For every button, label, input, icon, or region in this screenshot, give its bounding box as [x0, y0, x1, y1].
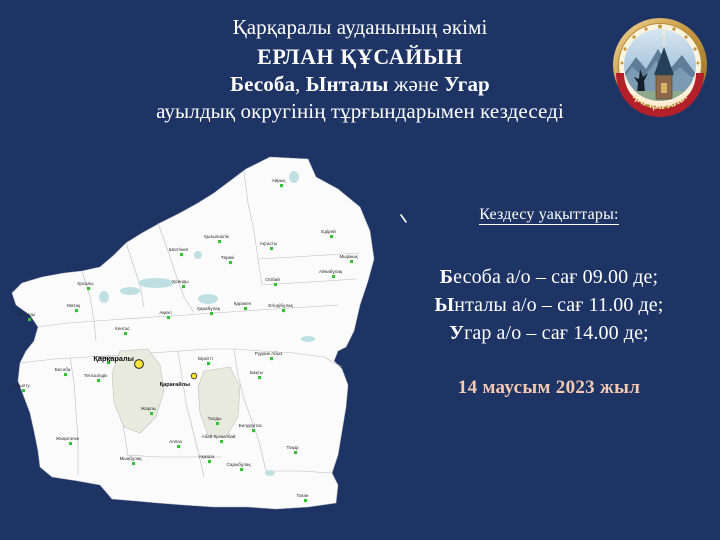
map-settlement-label: Белдеуітас [239, 423, 263, 428]
map-settlement-label: Кентас [115, 326, 130, 331]
map-settlement-label: Жаңатоған [56, 436, 80, 441]
map-settlement-label: Матақ [67, 303, 81, 308]
map-settlement-label: Таған [297, 493, 309, 498]
map-settlement-label: Ынталы [18, 312, 35, 317]
map-label-karkaraly: Қарқаралы [93, 354, 134, 363]
schedule-item-text: нталы а/о – сағ 11.00 де; [454, 294, 663, 316]
map-settlement-label: Жарлы [141, 406, 156, 411]
map-settlement-label: Тегісшілдік [84, 373, 108, 378]
map-settlement-label: Айрық [272, 177, 286, 183]
district-beseoba: Бесоба [230, 72, 295, 96]
map-settlement-label: Біркітті [198, 356, 213, 361]
map-settlement-label: Ақтасты [260, 241, 277, 246]
district-conjunction: және [389, 72, 445, 96]
map-settlement-label: Едірей [321, 228, 336, 234]
check-mark-icon [400, 214, 409, 223]
map-settlement-label: Мыржық [339, 254, 358, 259]
district-sep-1: , [295, 72, 306, 96]
karkaraly-district-map: АйрықЕдірейҚызылшілікАқтастыШоптікөлМырж… [8, 155, 383, 520]
map-marker-karagaily [191, 373, 197, 379]
map-settlement-label: Шоптікөл [169, 247, 189, 252]
map-settlement-label: Тоқар [286, 445, 299, 450]
event-date: 14 маусым 2023 жыл [392, 377, 706, 399]
schedule-item-lead: Ы [435, 294, 455, 316]
map-settlement: Ынталы [18, 312, 35, 321]
poster-root: Қарқаралы ауданының әкімі ЕРЛАН ҚҰСАЙЫН … [0, 0, 720, 540]
map-settlement-label: Мыңбұлақ [120, 456, 143, 461]
schedule-panel: Кездесу уақыттары: Бесоба а/о – сағ 09.0… [392, 206, 706, 399]
map-settlement-label: Төрекі [221, 255, 235, 260]
karkaraly-emblem-icon: ҚАРҚАРАЛЫ [606, 11, 714, 119]
map-settlement-label: Бақты [250, 370, 263, 375]
map-settlement-label: Сарыбұлақ [227, 462, 252, 467]
map-settlement-label: Айнабұлақ [319, 268, 343, 274]
map-settlement-label: Абай-Қызылбай [202, 433, 236, 439]
schedule-item: Угар а/о – сағ 14.00 де; [392, 319, 706, 347]
map-settlement-label: Қызылту [11, 383, 30, 388]
map-settlement-label: Қоянды [172, 279, 188, 284]
map-settlement-label: Қарабұлақ [197, 306, 221, 311]
schedule-item-text: есоба а/о – сағ 09.00 де; [453, 266, 658, 288]
map-settlement-label: Талды [208, 416, 222, 421]
schedule-item: Бесоба а/о – сағ 09.00 де; [392, 263, 706, 291]
map-settlement-label: Қызылшілік [204, 234, 229, 239]
schedule-item-lead: У [449, 322, 464, 344]
map-label-karagaily: Қарағайлы [160, 381, 190, 388]
map-marker-karkaraly [135, 360, 144, 369]
map-settlement-label: Егіндібұлақ [268, 303, 293, 308]
schedule-title: Кездесу уақыттары: [479, 206, 618, 225]
district-yntaly: Ынталы [306, 72, 389, 96]
map-settlement-label: Аппаз [169, 439, 182, 444]
schedule-item-lead: Б [440, 266, 453, 288]
map-settlement-label: Осібай [265, 276, 280, 282]
district-ugar: Угар [444, 72, 490, 96]
schedule-item: Ынталы а/о – сағ 11.00 де; [392, 291, 706, 319]
map-settlement-label: Ақкөл [159, 310, 172, 315]
map-settlement-label: Қарәкел [234, 301, 252, 306]
map-settlement-label: Қосалы [77, 281, 93, 286]
schedule-list: Бесоба а/о – сағ 09.00 де; Ынталы а/о – … [392, 263, 706, 347]
map-settlement-label: Ақжора [199, 454, 215, 459]
schedule-item-text: гар а/о – сағ 14.00 де; [464, 322, 649, 344]
map-settlement-label: Бесоба [55, 367, 71, 372]
map-settlement-label: Рудник Абыз [255, 351, 282, 356]
